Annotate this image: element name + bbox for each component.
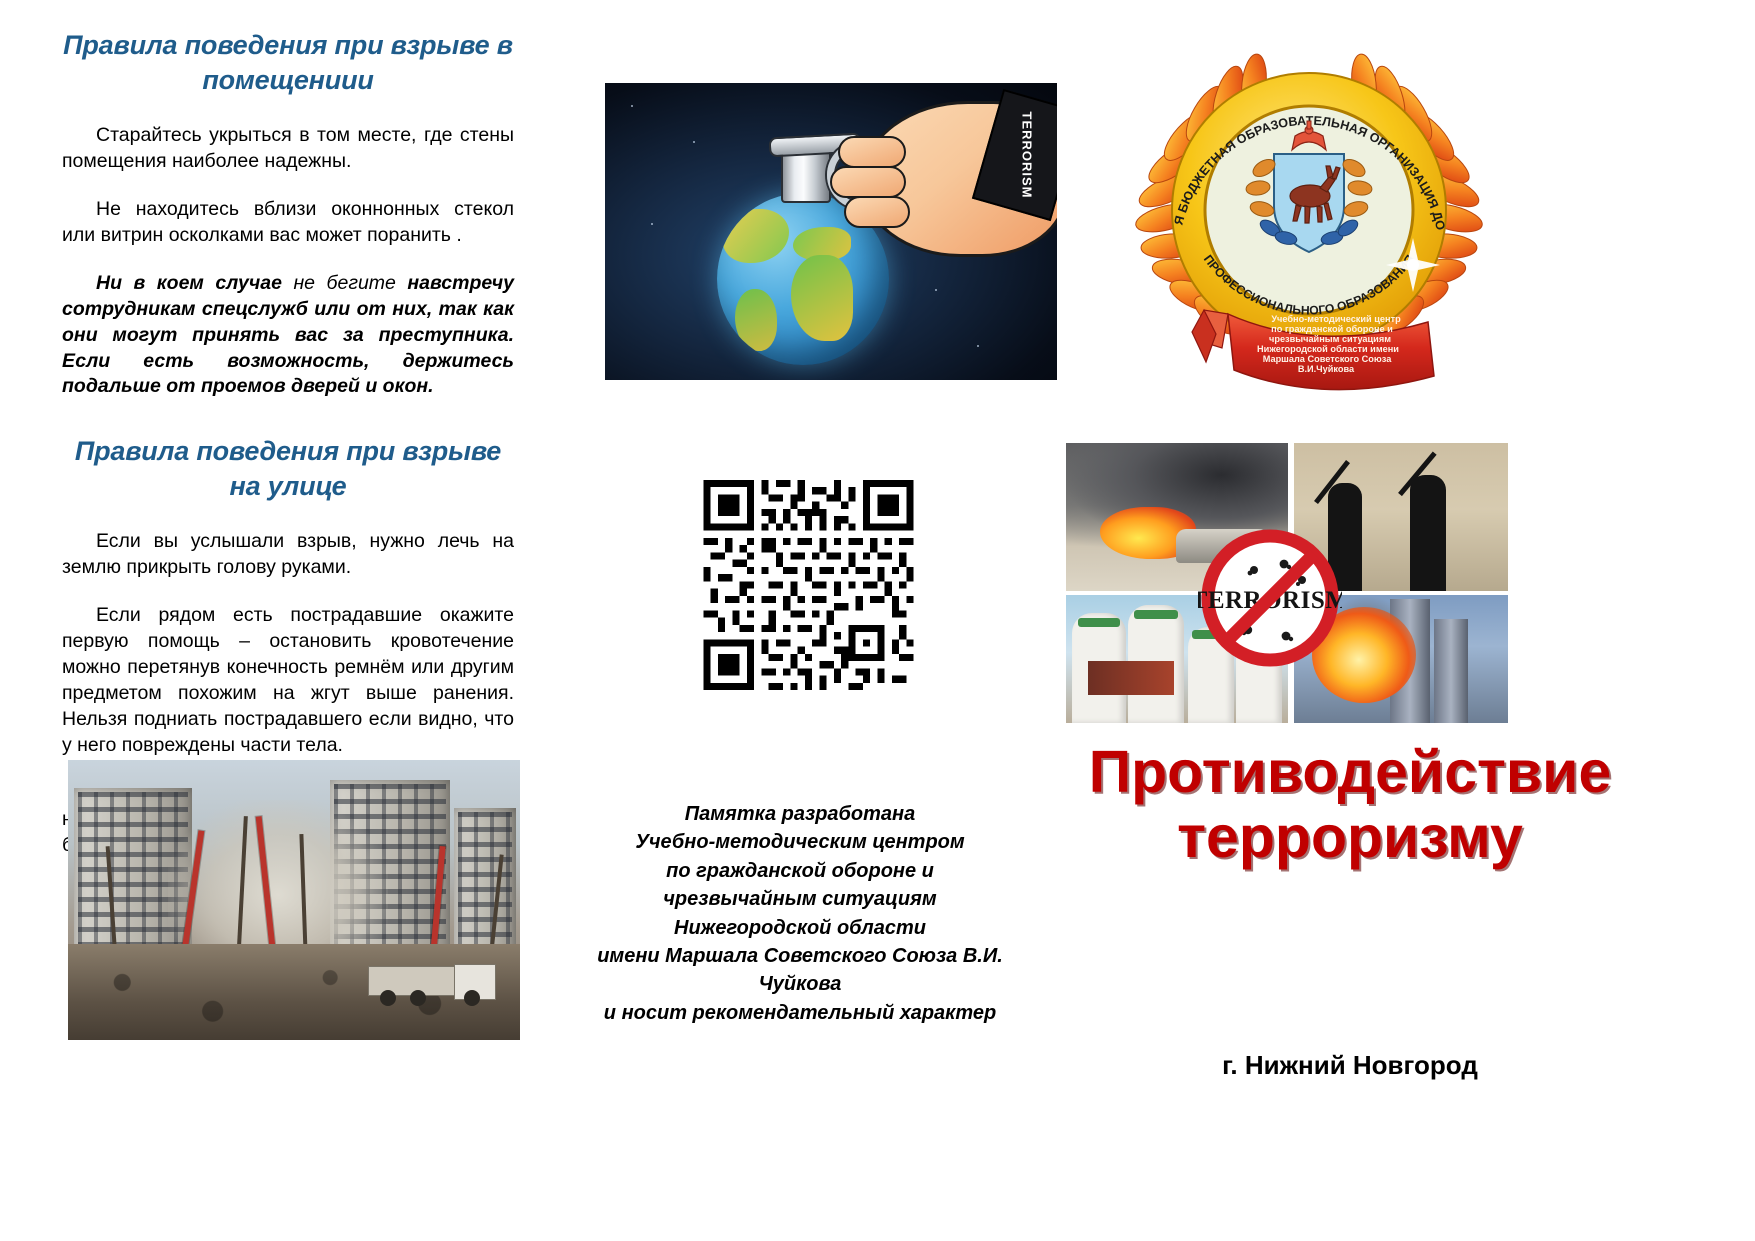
globe-landmass [735, 289, 777, 351]
terrorism-cuff: TERRORISM [972, 89, 1057, 221]
star-icon [935, 289, 937, 291]
qr-code[interactable] [702, 480, 915, 690]
cuff-label: TERRORISM [1020, 112, 1035, 199]
credits-line: Учебно-методическим центром [565, 828, 1035, 856]
photo-building-right [454, 808, 516, 958]
credits-line: имени Маршала Советского Союза В.И. [565, 942, 1035, 970]
svg-text:В.И.Чуйкова: В.И.Чуйкова [1298, 364, 1355, 374]
emphasis-plain: не бегите [293, 272, 407, 294]
page-title-line-1: Противодействие [1040, 740, 1660, 805]
militant-silhouette [1410, 475, 1446, 591]
left-column: Правила поведения при взрыве в помещении… [62, 28, 514, 881]
section-heading-indoor-explosion: Правила поведения при взрыве в помещении… [62, 28, 514, 97]
explosive-vest [1088, 661, 1174, 695]
credits-line: Нижегородской области [565, 914, 1035, 942]
star-icon [631, 105, 633, 107]
credits-line: Чуйкова [565, 970, 1035, 998]
hand-finger [838, 136, 906, 168]
truck-wheel [410, 990, 426, 1006]
star-icon [651, 223, 653, 225]
star-icon [693, 141, 695, 143]
tower-building [1434, 619, 1468, 723]
paragraph-street-1: Если вы услышали взрыв, нужно лечь на зе… [62, 529, 514, 581]
page-title-line-2: терроризму [1040, 805, 1660, 870]
svg-text:чрезвычайным ситуациям: чрезвычайным ситуациям [1269, 334, 1391, 344]
no-terrorism-sign: TERRORISM [1198, 526, 1342, 670]
section-heading-street-explosion: Правила поведения при взрыве на улице [62, 434, 514, 503]
page-title: Противодействие терроризму [1040, 740, 1660, 870]
svg-text:Маршала Советского Союза: Маршала Советского Союза [1263, 354, 1393, 364]
green-headband [1134, 610, 1178, 619]
truck-wheel [464, 990, 480, 1006]
city-label: г. Нижний Новгород [1040, 1050, 1660, 1081]
green-headband [1078, 618, 1120, 627]
paragraph-street-2: Если рядом есть пострадавшие окажите пер… [62, 603, 514, 759]
star-icon [977, 345, 979, 347]
credits-line: Памятка разработана [565, 800, 1035, 828]
credits-line: по гражданской обороне и [565, 857, 1035, 885]
credits-block: Памятка разработана Учебно-методическим … [565, 800, 1035, 1027]
emphasis-lead: Ни в коем случае [96, 272, 293, 294]
illustration-globe-grenade: TERRORISM [605, 83, 1057, 380]
hand-icon: TERRORISM [861, 101, 1057, 257]
truck-wheel [380, 990, 396, 1006]
svg-text:Учебно-методический центр: Учебно-методический центр [1271, 314, 1401, 324]
emblem: ГОСУДАРСТВЕННАЯ БЮДЖЕТНАЯ ОБРАЗОВАТЕЛЬНА… [1124, 22, 1494, 394]
hand-finger [844, 196, 910, 228]
photo-dump-truck [368, 954, 496, 1006]
photo-destroyed-building [68, 760, 520, 1040]
svg-text:по гражданской обороне и: по гражданской обороне и [1271, 324, 1393, 334]
globe-landmass [723, 209, 789, 263]
credits-line: и носит рекомендательный характер [565, 999, 1035, 1027]
svg-text:Нижегородской области имени: Нижегородской области имени [1257, 344, 1399, 354]
hand-finger [830, 166, 906, 198]
paragraph-indoor-1: Старайтесь укрыться в том месте, где сте… [62, 123, 514, 175]
paragraph-indoor-2: Не находитесь вблизи оконнонных стекол и… [62, 197, 514, 249]
credits-line: чрезвычайным ситуациям [565, 885, 1035, 913]
emblem-ribbon: Учебно-методический центр по гражданской… [1192, 310, 1434, 390]
paragraph-indoor-emphasis: Ни в коем случае не бегите навстречу сот… [62, 271, 514, 401]
globe-landmass [791, 255, 853, 341]
